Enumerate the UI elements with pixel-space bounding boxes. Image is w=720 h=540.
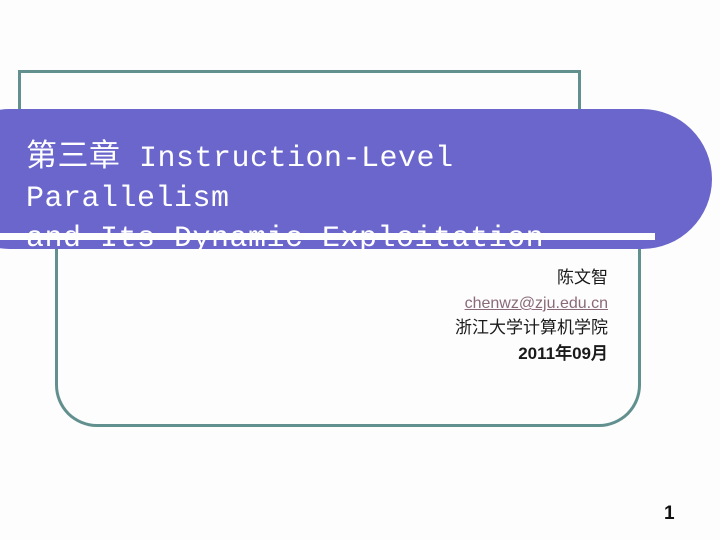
slide-canvas: 第三章 Instruction-Level Parallelism and It… bbox=[0, 0, 720, 540]
slide-title-english-line2: and Its Dynamic Exploitation bbox=[26, 222, 544, 256]
presentation-date: 2011年09月 bbox=[455, 341, 608, 366]
slide-title: 第三章 Instruction-Level Parallelism and It… bbox=[26, 136, 666, 259]
slide-subtitle-block: 陈文智 chenwz@zju.edu.cn 浙江大学计算机学院 2011年09月 bbox=[455, 266, 608, 366]
author-name: 陈文智 bbox=[455, 266, 608, 291]
page-number: 1 bbox=[664, 503, 675, 525]
affiliation: 浙江大学计算机学院 bbox=[455, 316, 608, 341]
slide-title-chapter: 第三章 bbox=[26, 138, 121, 174]
author-email-link[interactable]: chenwz@zju.edu.cn bbox=[455, 291, 608, 316]
